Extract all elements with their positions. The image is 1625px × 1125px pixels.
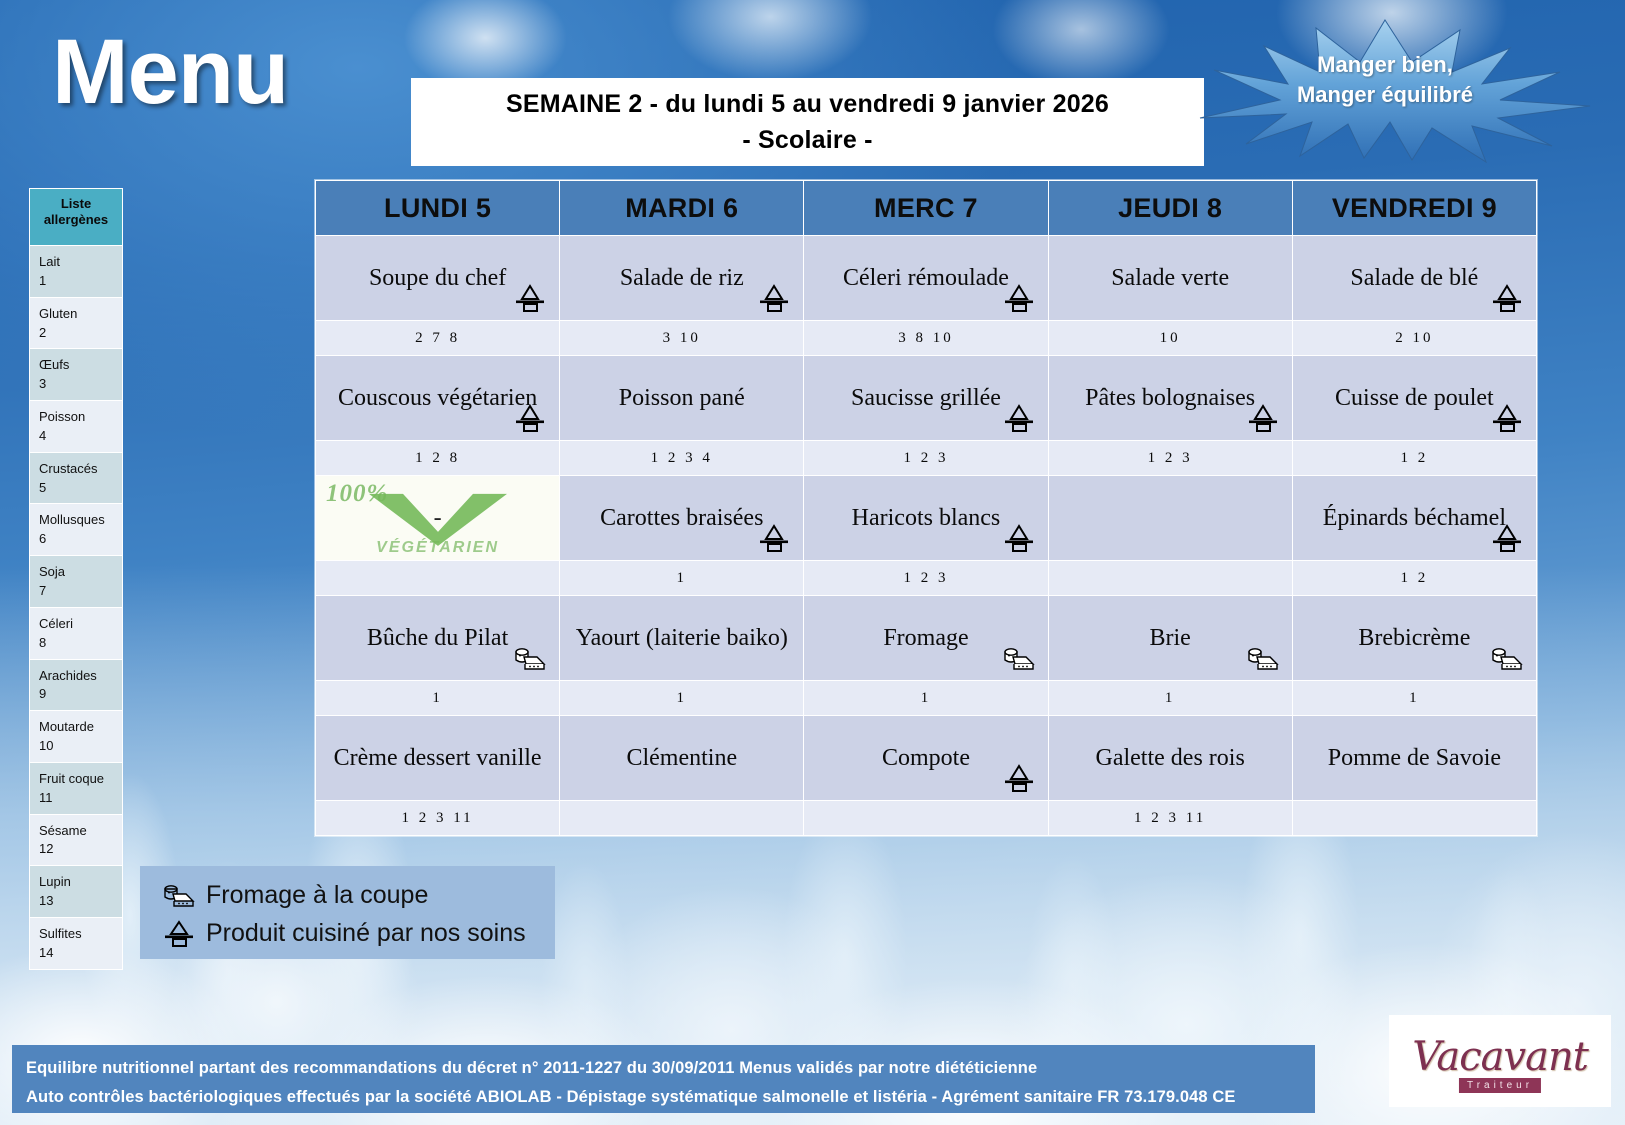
allergen-code-cell: 3 8 10 xyxy=(804,321,1048,356)
allergen-code-cell: 10 xyxy=(1048,321,1292,356)
allergen-label: Œufs xyxy=(39,357,69,372)
menu-category-text: - Scolaire - xyxy=(742,122,872,158)
allergen-code-cell: 1 xyxy=(804,681,1048,716)
allergen-codes: 1 2 3 xyxy=(1055,449,1286,468)
cooked-icon xyxy=(513,404,547,434)
dish-cell: Clémentine xyxy=(560,716,804,801)
allergen-list-panel: Liste allergènes Lait1Gluten2Œufs3Poisso… xyxy=(29,188,123,970)
allergen-code-row: 2 7 83 103 8 10102 10 xyxy=(316,321,1537,356)
allergen-codes: 1 2 3 xyxy=(810,449,1041,468)
week-banner: SEMAINE 2 - du lundi 5 au vendredi 9 jan… xyxy=(411,78,1204,166)
allergen-label: Fruit coque xyxy=(39,771,104,786)
allergen-code-cell: 1 2 3 xyxy=(1048,441,1292,476)
dish-cell: Carottes braisées xyxy=(560,476,804,561)
allergen-item: Crustacés5 xyxy=(29,453,123,505)
day-header-3: MERC 7 xyxy=(804,181,1048,236)
dish-cell: Couscous végétarien xyxy=(316,356,560,441)
day-header-2: MARDI 6 xyxy=(560,181,804,236)
dish-cell: Poisson pané xyxy=(560,356,804,441)
allergen-number: 13 xyxy=(39,892,115,911)
allergen-item: Arachides9 xyxy=(29,660,123,712)
allergen-code-cell: 1 2 xyxy=(1292,561,1536,596)
allergen-codes: 1 2 3 11 xyxy=(1055,809,1286,828)
cooked-icon xyxy=(1002,284,1036,314)
allergen-codes: 10 xyxy=(1055,329,1286,348)
allergen-codes: 3 8 10 xyxy=(810,329,1041,348)
dish-name: Galette des rois xyxy=(1059,743,1282,773)
dish-row: Crème dessert vanilleClémentineCompoteGa… xyxy=(316,716,1537,801)
allergen-label: Lupin xyxy=(39,874,71,889)
legend-row-cooked: Produit cuisiné par nos soins xyxy=(162,914,555,952)
allergen-code-cell: 1 2 3 4 xyxy=(560,441,804,476)
allergen-number: 7 xyxy=(39,582,115,601)
dish-cell: Épinards béchamel xyxy=(1292,476,1536,561)
allergen-codes: 1 2 3 11 xyxy=(322,809,553,828)
footer-line-1: Equilibre nutritionnel partant des recom… xyxy=(26,1054,1301,1083)
cooked-icon xyxy=(1002,764,1036,794)
allergen-codes: 1 2 8 xyxy=(322,449,553,468)
allergen-code-cell: 1 2 3 11 xyxy=(316,801,560,836)
dish-cell: Soupe du chef xyxy=(316,236,560,321)
allergen-item: Lupin13 xyxy=(29,866,123,918)
day-header-5: VENDREDI 9 xyxy=(1292,181,1536,236)
allergen-codes: 1 2 xyxy=(1299,449,1530,468)
starburst-shape xyxy=(1200,20,1590,162)
allergen-codes: 1 2 xyxy=(1299,569,1530,588)
allergen-label: Sésame xyxy=(39,823,87,838)
allergen-label: Moutarde xyxy=(39,719,94,734)
allergen-code-cell: 1 xyxy=(1048,681,1292,716)
allergen-code-cell: 1 xyxy=(316,681,560,716)
dish-cell: Salade verte xyxy=(1048,236,1292,321)
legend-cooked-label: Produit cuisiné par nos soins xyxy=(206,919,526,948)
cooked-icon xyxy=(1490,524,1524,554)
vegetarian-logo: 100%-VÉGÉTARIEN xyxy=(316,476,559,560)
allergen-list-title: Liste allergènes xyxy=(29,188,123,246)
allergen-code-cell xyxy=(804,801,1048,836)
company-tagline: Traiteur xyxy=(1459,1078,1541,1093)
dish-row: 100%-VÉGÉTARIENCarottes braiséesHaricots… xyxy=(316,476,1537,561)
allergen-item: Œufs3 xyxy=(29,349,123,401)
allergen-item: Gluten2 xyxy=(29,298,123,350)
allergen-number: 5 xyxy=(39,479,115,498)
cooked-icon xyxy=(1490,284,1524,314)
allergen-code-cell: 1 2 8 xyxy=(316,441,560,476)
allergen-codes: 1 xyxy=(1299,689,1530,708)
allergen-item: Lait1 xyxy=(29,246,123,298)
allergen-code-cell: 1 2 3 xyxy=(804,441,1048,476)
allergen-code-row: 1 2 3 111 2 3 11 xyxy=(316,801,1537,836)
dish-row: Couscous végétarienPoisson panéSaucisse … xyxy=(316,356,1537,441)
allergen-codes: 1 2 3 4 xyxy=(566,449,797,468)
dish-cell: Salade de riz xyxy=(560,236,804,321)
cooked-icon xyxy=(1002,524,1036,554)
allergen-label: Mollusques xyxy=(39,512,105,527)
dish-cell: Brebicrème xyxy=(1292,596,1536,681)
allergen-label: Arachides xyxy=(39,668,97,683)
day-header-1: LUNDI 5 xyxy=(316,181,560,236)
footer-line-2: Auto contrôles bactériologiques effectué… xyxy=(26,1083,1301,1112)
allergen-label: Soja xyxy=(39,564,65,579)
allergen-code-cell: 1 2 3 xyxy=(804,561,1048,596)
allergen-item: Sulfites14 xyxy=(29,918,123,970)
weekly-menu-table: LUNDI 5MARDI 6MERC 7JEUDI 8VENDREDI 9 So… xyxy=(315,180,1537,836)
allergen-label: Poisson xyxy=(39,409,85,424)
allergen-number: 12 xyxy=(39,840,115,859)
dish-cell: Galette des rois xyxy=(1048,716,1292,801)
allergen-number: 1 xyxy=(39,272,115,291)
allergen-item: Moutarde10 xyxy=(29,711,123,763)
dish-name: Pomme de Savoie xyxy=(1303,743,1526,773)
allergen-code-cell: 1 xyxy=(560,561,804,596)
cooked-icon xyxy=(1246,404,1280,434)
allergen-codes: 2 7 8 xyxy=(322,329,553,348)
legend-row-cheese: Fromage à la coupe xyxy=(162,876,555,914)
allergen-item: Fruit coque11 xyxy=(29,763,123,815)
table-header-row: LUNDI 5MARDI 6MERC 7JEUDI 8VENDREDI 9 xyxy=(316,181,1537,236)
allergen-codes: 1 xyxy=(566,689,797,708)
cooked-icon xyxy=(513,284,547,314)
page-title: Menu xyxy=(52,26,288,118)
dish-name: Clémentine xyxy=(570,743,793,773)
allergen-label: Gluten xyxy=(39,306,77,321)
cooked-icon xyxy=(162,918,196,948)
allergen-code-row: 11111 xyxy=(316,681,1537,716)
allergen-number: 10 xyxy=(39,737,115,756)
company-name: Vacavant xyxy=(1412,1034,1588,1080)
allergen-item: Soja7 xyxy=(29,556,123,608)
allergen-codes: 1 xyxy=(810,689,1041,708)
dish-cell: Cuisse de poulet xyxy=(1292,356,1536,441)
allergen-codes: 2 10 xyxy=(1299,329,1530,348)
company-logo: Vacavant Traiteur xyxy=(1389,1015,1611,1107)
legend-box: Fromage à la coupe Produit cuisiné par n… xyxy=(140,866,555,959)
vegetarian-logo-cell: 100%-VÉGÉTARIEN xyxy=(316,476,560,561)
allergen-label: Sulfites xyxy=(39,926,82,941)
dish-cell: Pâtes bolognaises xyxy=(1048,356,1292,441)
footer-bar: Equilibre nutritionnel partant des recom… xyxy=(12,1045,1315,1113)
slogan-starburst: Manger bien, Manger équilibré xyxy=(1160,14,1610,164)
dish-cell: Saucisse grillée xyxy=(804,356,1048,441)
allergen-label: Crustacés xyxy=(39,461,98,476)
allergen-code-cell: 1 2 xyxy=(1292,441,1536,476)
allergen-label: Céleri xyxy=(39,616,73,631)
cooked-icon xyxy=(1002,404,1036,434)
dish-cell: Crème dessert vanille xyxy=(316,716,560,801)
allergen-number: 4 xyxy=(39,427,115,446)
allergen-number: 2 xyxy=(39,324,115,343)
allergen-item: Sésame12 xyxy=(29,815,123,867)
dish-cell: Compote xyxy=(804,716,1048,801)
allergen-codes: 1 xyxy=(566,569,797,588)
dish-cell: Bûche du Pilat xyxy=(316,596,560,681)
allergen-code-cell: 1 xyxy=(1292,681,1536,716)
allergen-number: 9 xyxy=(39,685,115,704)
legend-cheese-label: Fromage à la coupe xyxy=(206,881,428,910)
dish-cell: Salade de blé xyxy=(1292,236,1536,321)
allergen-codes: 3 10 xyxy=(566,329,797,348)
dish-row: Bûche du PilatYaourt (laiterie baiko)Fro… xyxy=(316,596,1537,681)
allergen-code-row: 1 2 81 2 3 41 2 31 2 31 2 xyxy=(316,441,1537,476)
cooked-icon xyxy=(1490,404,1524,434)
cheese-icon xyxy=(1490,644,1524,674)
allergen-number: 3 xyxy=(39,375,115,394)
cheese-icon xyxy=(513,644,547,674)
cooked-icon xyxy=(757,284,791,314)
dish-name: Poisson pané xyxy=(570,383,793,413)
allergen-code-cell: 2 10 xyxy=(1292,321,1536,356)
cheese-icon xyxy=(1002,644,1036,674)
cheese-icon xyxy=(1246,644,1280,674)
dish-name: Yaourt (laiterie baiko) xyxy=(570,623,793,653)
allergen-code-row: 11 2 31 2 xyxy=(316,561,1537,596)
vegetarian-dash: - xyxy=(434,505,442,532)
dish-name: Salade verte xyxy=(1059,263,1282,293)
allergen-code-cell: 2 7 8 xyxy=(316,321,560,356)
allergen-item: Mollusques6 xyxy=(29,504,123,556)
dish-name: Crème dessert vanille xyxy=(326,743,549,773)
dish-cell: Pomme de Savoie xyxy=(1292,716,1536,801)
allergen-code-cell: 1 xyxy=(560,681,804,716)
allergen-number: 8 xyxy=(39,634,115,653)
day-header-4: JEUDI 8 xyxy=(1048,181,1292,236)
dish-cell: Brie xyxy=(1048,596,1292,681)
cheese-icon xyxy=(162,880,196,910)
dish-cell: Fromage xyxy=(804,596,1048,681)
allergen-code-cell xyxy=(1292,801,1536,836)
allergen-codes: 1 2 3 xyxy=(810,569,1041,588)
week-range-text: SEMAINE 2 - du lundi 5 au vendredi 9 jan… xyxy=(506,86,1109,122)
allergen-number: 11 xyxy=(39,789,115,808)
allergen-number: 14 xyxy=(39,944,115,963)
dish-cell: Haricots blancs xyxy=(804,476,1048,561)
dish-row: Soupe du chefSalade de rizCéleri rémoula… xyxy=(316,236,1537,321)
cooked-icon xyxy=(757,524,791,554)
allergen-code-cell: 3 10 xyxy=(560,321,804,356)
allergen-item: Poisson4 xyxy=(29,401,123,453)
allergen-item: Céleri8 xyxy=(29,608,123,660)
dish-cell xyxy=(1048,476,1292,561)
allergen-code-cell: 1 2 3 11 xyxy=(1048,801,1292,836)
allergen-code-cell xyxy=(560,801,804,836)
allergen-label: Lait xyxy=(39,254,60,269)
allergen-number: 6 xyxy=(39,530,115,549)
allergen-code-cell xyxy=(316,561,560,596)
allergen-codes: 1 xyxy=(322,689,553,708)
allergen-code-cell xyxy=(1048,561,1292,596)
dish-cell: Céleri rémoulade xyxy=(804,236,1048,321)
dish-cell: Yaourt (laiterie baiko) xyxy=(560,596,804,681)
allergen-codes: 1 xyxy=(1055,689,1286,708)
